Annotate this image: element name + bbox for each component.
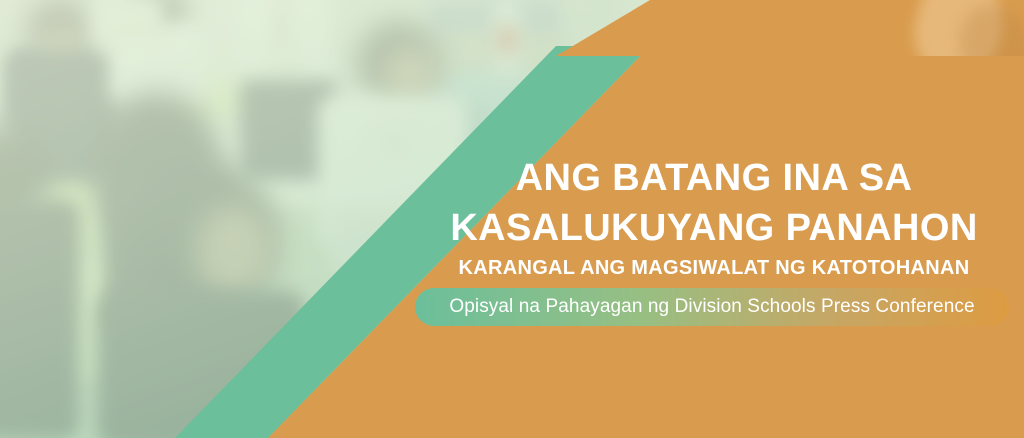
publication-descriptor-pill: Opisyal na Pahayagan ng Division Schools… [415, 288, 1009, 326]
publication-descriptor-text: Opisyal na Pahayagan ng Division Schools… [449, 296, 974, 318]
publication-masthead-banner: ANG BATANG INA SA KASALUKUYANG PANAHON K… [0, 0, 1024, 438]
tagline: KARANGAL ANG MAGSIWALAT NG KATOTOHANAN [404, 257, 1024, 279]
headline-line-2: KASALUKUYANG PANAHON [404, 208, 1024, 248]
headline-line-1: ANG BATANG INA SA [404, 158, 1024, 198]
masthead-text-block: ANG BATANG INA SA KASALUKUYANG PANAHON K… [404, 0, 1024, 438]
